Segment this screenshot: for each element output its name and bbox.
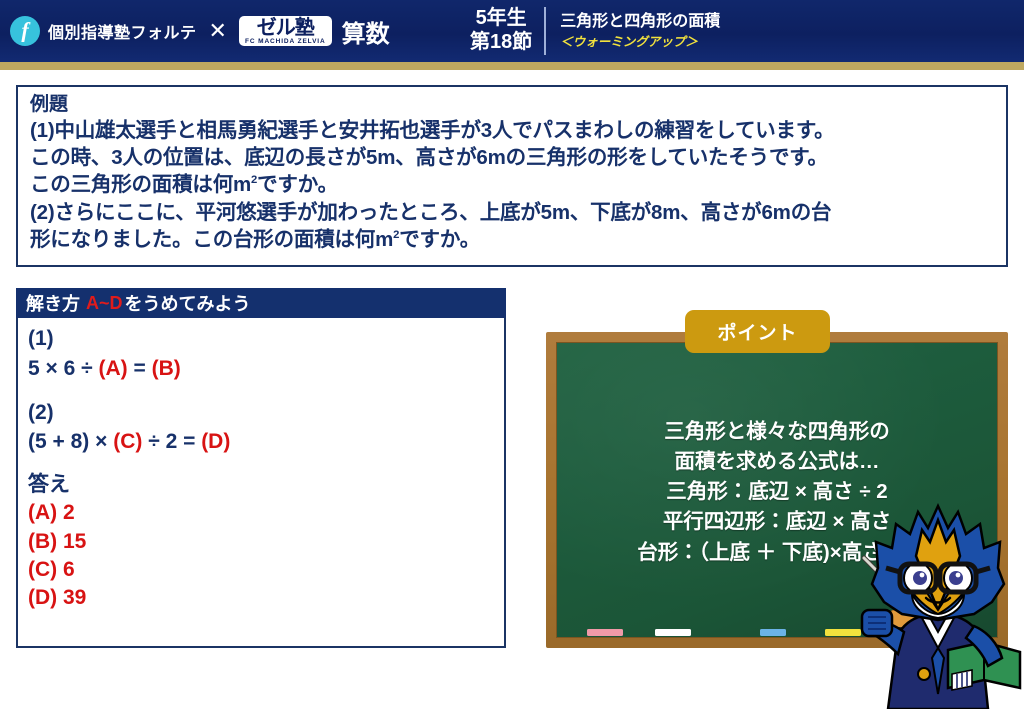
answer-heading: 答え	[28, 471, 504, 499]
solution-q1-expression: 5 × 6 ÷ (A) = (B)	[28, 354, 504, 384]
solution-header-prefix: 解き方	[26, 290, 80, 316]
example-line-4: (2)さらにここに、平河悠選手が加わったところ、上底が5m、下底が8m、高さが6…	[30, 199, 996, 226]
brand-forte: f 個別指導塾フォルテ	[10, 16, 197, 46]
example-problem-box: 例題 (1)中山雄太選手と相馬勇紀選手と安井拓也選手が3人でパスまわしの練習をし…	[16, 85, 1008, 267]
zelvia-bird-teacher-mascot	[852, 498, 1024, 709]
example-line-5: 形になりました。この台形の面積は何m2ですか。	[30, 226, 996, 253]
example-line-5-prefix: 形になりました。この台形の面積は何m	[30, 228, 393, 251]
lesson-title: 三角形と四角形の面積	[560, 12, 720, 31]
q2-expr-part1: (5 + 8) ×	[28, 430, 113, 453]
q2-blank-c: (C)	[113, 430, 142, 453]
zel-juku-label: ゼル塾	[257, 18, 314, 38]
header-gold-divider	[0, 62, 1024, 70]
subject-label: 算数	[342, 14, 390, 49]
forte-f-logo-icon: f	[10, 16, 40, 46]
solution-panel: 解き方 A~D をうめてみよう (1) 5 × 6 ÷ (A) = (B) (2…	[16, 288, 506, 648]
board-line-2: 面積を求める公式は…	[557, 447, 997, 477]
example-line-5-suffix: ですか。	[399, 228, 480, 251]
page-header: f 個別指導塾フォルテ ✕ ゼル塾 FC MACHIDA ZELVIA 算数 5…	[0, 0, 1024, 62]
lesson-phase-badge: ＜ウォーミングアップ＞	[560, 35, 720, 50]
example-heading: 例題	[30, 93, 996, 117]
answer-item-d: (D) 39	[28, 584, 504, 612]
solution-header-accent: A~D	[86, 293, 123, 314]
q1-expr-part2: =	[128, 357, 152, 380]
chalk-blue-icon	[760, 629, 786, 636]
grade-label: 5年生	[470, 7, 532, 31]
answer-item-c: (C) 6	[28, 556, 504, 584]
answer-item-b: (B) 15	[28, 528, 504, 556]
grade-section-block: 5年生 第18節	[470, 7, 546, 54]
solution-panel-body: (1) 5 × 6 ÷ (A) = (B) (2) (5 + 8) × (C) …	[16, 318, 506, 648]
example-line-3-suffix: ですか。	[257, 173, 338, 196]
solution-header-suffix: をうめてみよう	[125, 290, 251, 316]
q2-expr-part2: ÷ 2 =	[142, 430, 201, 453]
solution-q2-expression: (5 + 8) × (C) ÷ 2 = (D)	[28, 427, 504, 457]
solution-panel-header: 解き方 A~D をうめてみよう	[16, 288, 506, 318]
brand-zel-juku: ゼル塾 FC MACHIDA ZELVIA	[239, 16, 332, 47]
header-lesson-info: 5年生 第18節 三角形と四角形の面積 ＜ウォーミングアップ＞	[470, 0, 720, 62]
forte-brand-label: 個別指導塾フォルテ	[48, 19, 197, 43]
answer-item-a: (A) 2	[28, 499, 504, 527]
solution-spacer	[28, 457, 504, 471]
q1-blank-a: (A)	[99, 357, 128, 380]
point-badge-label: ポイント	[717, 318, 797, 345]
solution-spacer	[28, 384, 504, 398]
example-line-1: (1)中山雄太選手と相馬勇紀選手と安井拓也選手が3人でパスまわしの練習をしていま…	[30, 117, 996, 144]
example-line-2: この時、3人の位置は、底辺の長さが5m、高さが6mの三角形の形をしていたそうです…	[30, 144, 996, 171]
q1-expr-part1: 5 × 6 ÷	[28, 357, 99, 380]
q1-blank-b: (B)	[152, 357, 181, 380]
chalk-white-icon	[655, 629, 691, 636]
solution-q1-label: (1)	[28, 324, 504, 354]
zel-juku-sublabel: FC MACHIDA ZELVIA	[245, 39, 326, 46]
example-line-3-prefix: この三角形の面積は何m	[30, 173, 251, 196]
section-label: 第18節	[470, 31, 532, 55]
mascot-left-hand	[862, 610, 892, 636]
point-badge: ポイント	[685, 310, 830, 353]
chalk-pink-icon	[587, 629, 623, 636]
solution-q2-label: (2)	[28, 398, 504, 428]
forte-f-glyph: f	[10, 20, 40, 42]
lesson-title-block: 三角形と四角形の面積 ＜ウォーミングアップ＞	[546, 12, 720, 49]
cross-icon: ✕	[209, 20, 227, 42]
board-line-1: 三角形と様々な四角形の	[557, 417, 997, 447]
q2-blank-d: (D)	[201, 430, 230, 453]
example-line-3: この三角形の面積は何m2ですか。	[30, 171, 996, 198]
